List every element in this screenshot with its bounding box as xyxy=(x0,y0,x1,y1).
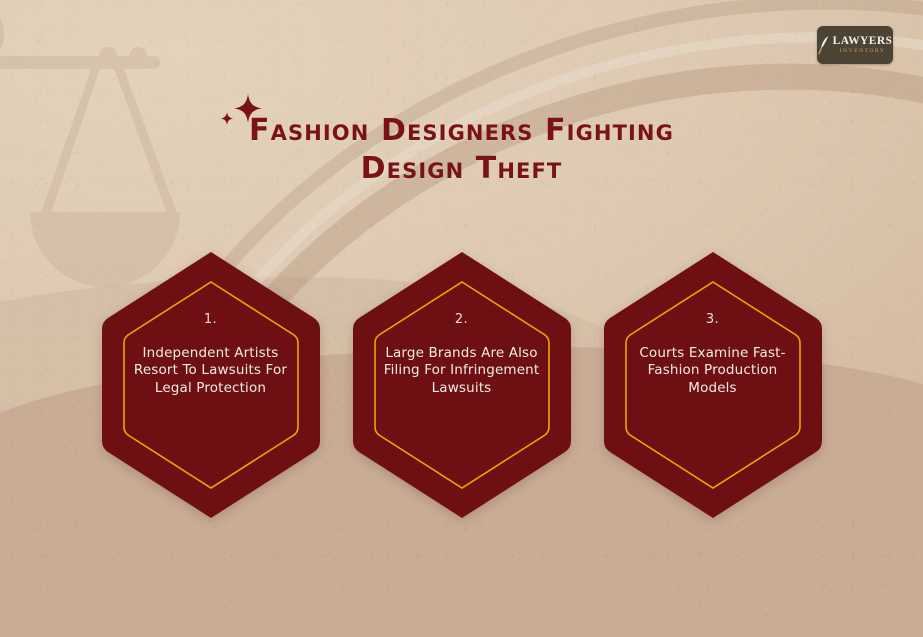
logo-text-group: LAWYERS INVENTORY xyxy=(833,36,893,55)
title-block: Fashion Designers Fighting Design Theft xyxy=(0,112,923,189)
hexagon-card-1[interactable]: 1. Independent Artists Resort To Lawsuit… xyxy=(98,248,324,522)
hexagon-content: 1. Independent Artists Resort To Lawsuit… xyxy=(98,248,324,522)
hexagon-content: 2. Large Brands Are Also Filing For Infr… xyxy=(349,248,575,522)
hexagon-number: 1. xyxy=(204,312,217,327)
hexagon-row: 1. Independent Artists Resort To Lawsuit… xyxy=(0,248,923,522)
hexagon-card-2[interactable]: 2. Large Brands Are Also Filing For Infr… xyxy=(349,248,575,522)
sparkle-star-icon xyxy=(214,90,274,138)
page-title-line-2: Design Theft xyxy=(150,150,773,188)
infographic-slide: LAWYERS INVENTORY Fashion Designers Figh… xyxy=(0,0,923,637)
hexagon-label: Large Brands Are Also Filing For Infring… xyxy=(375,345,549,397)
hexagon-card-3[interactable]: 3. Courts Examine Fast-Fashion Productio… xyxy=(600,248,826,522)
logo-secondary-text: INVENTORY xyxy=(833,49,893,55)
hexagon-content: 3. Courts Examine Fast-Fashion Productio… xyxy=(600,248,826,522)
logo-primary-text: LAWYERS xyxy=(833,36,893,48)
hexagon-number: 3. xyxy=(706,312,719,327)
hexagon-label: Independent Artists Resort To Lawsuits F… xyxy=(124,345,298,397)
brand-logo[interactable]: LAWYERS INVENTORY xyxy=(817,26,893,64)
hexagon-number: 2. xyxy=(455,312,468,327)
hexagon-label: Courts Examine Fast-Fashion Production M… xyxy=(626,345,800,397)
quill-icon xyxy=(818,34,829,56)
page-title: Fashion Designers Fighting Design Theft xyxy=(0,112,923,189)
